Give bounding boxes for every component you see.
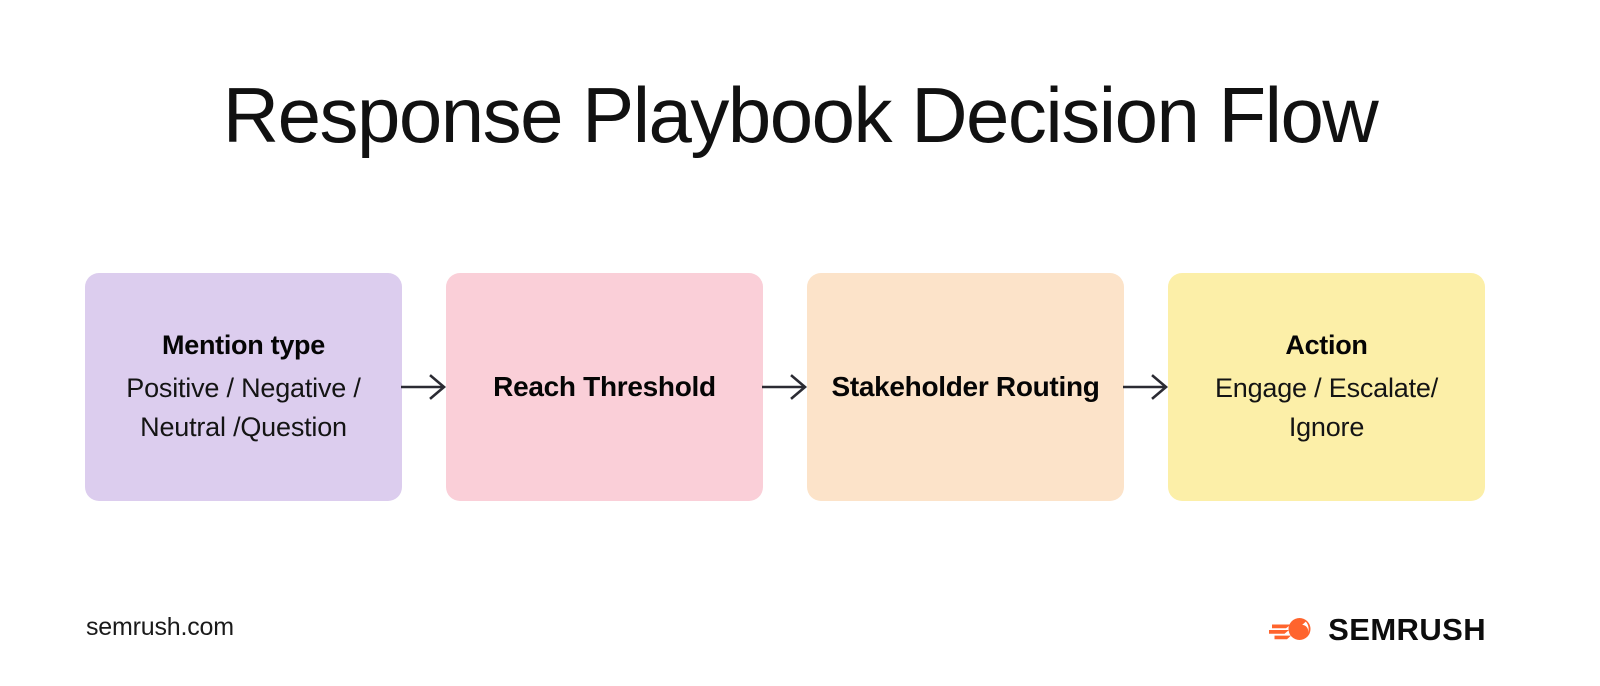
flow-node-description: Engage / Escalate/ Ignore bbox=[1187, 369, 1467, 446]
flow-node-description: Positive / Negative / Neutral /Question bbox=[104, 369, 384, 446]
flow-connector-3 bbox=[1124, 273, 1168, 501]
flow-node-stakeholder-routing[interactable]: Stakeholder Routing bbox=[807, 273, 1124, 501]
arrow-right-icon bbox=[401, 373, 447, 401]
semrush-comet-icon bbox=[1269, 613, 1315, 645]
decision-flow-row: Mention type Positive / Negative / Neutr… bbox=[85, 273, 1485, 501]
flow-node-title: Reach Threshold bbox=[493, 368, 716, 405]
flow-node-reach-threshold[interactable]: Reach Threshold bbox=[446, 273, 763, 501]
flow-connector-1 bbox=[402, 273, 446, 501]
flow-node-mention-type[interactable]: Mention type Positive / Negative / Neutr… bbox=[85, 273, 402, 501]
arrow-right-icon bbox=[762, 373, 808, 401]
flow-node-action[interactable]: Action Engage / Escalate/ Ignore bbox=[1168, 273, 1485, 501]
flow-node-title: Stakeholder Routing bbox=[831, 368, 1099, 405]
flow-node-title: Action bbox=[1285, 328, 1367, 363]
flow-connector-2 bbox=[763, 273, 807, 501]
flow-node-title: Mention type bbox=[162, 328, 325, 363]
semrush-wordmark: SEMRUSH bbox=[1328, 614, 1486, 645]
page-title: Response Playbook Decision Flow bbox=[0, 76, 1600, 154]
footer-site-url: semrush.com bbox=[86, 613, 234, 642]
diagram-canvas: Response Playbook Decision Flow Mention … bbox=[0, 0, 1600, 686]
semrush-logo: SEMRUSH bbox=[1269, 608, 1486, 650]
arrow-right-icon bbox=[1123, 373, 1169, 401]
